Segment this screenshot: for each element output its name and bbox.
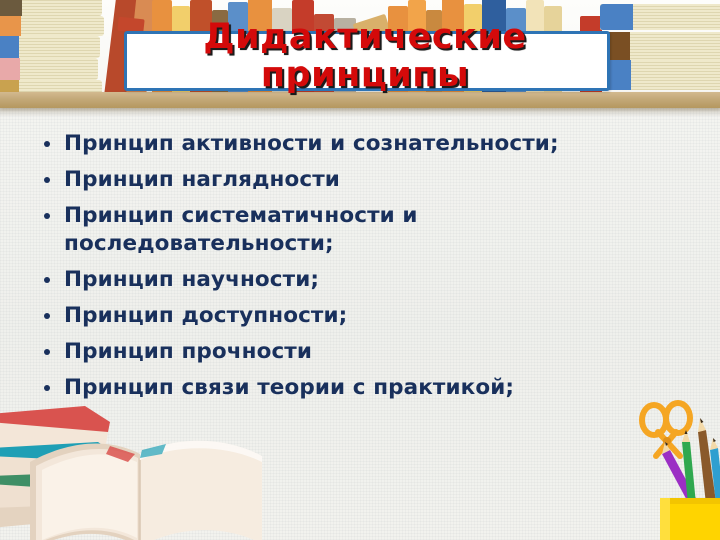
pencil-cup bbox=[660, 498, 720, 540]
bullet-dot-icon bbox=[44, 141, 50, 147]
title-plaque bbox=[124, 31, 610, 91]
bullet-dot-icon bbox=[44, 277, 50, 283]
bullet-dot-icon bbox=[44, 313, 50, 319]
bullet-dot-icon bbox=[44, 349, 50, 355]
list-item: Принцип активности и сознательности; bbox=[34, 130, 674, 158]
open-book-illustration bbox=[0, 392, 300, 540]
book-flat-right-1 bbox=[600, 4, 720, 30]
list-item: Принцип наглядности bbox=[34, 166, 674, 194]
book-flat-right-2 bbox=[596, 32, 720, 60]
book-flat-left-1 bbox=[0, 0, 102, 16]
shelf-shadow bbox=[0, 108, 720, 116]
book-flat-left-4 bbox=[0, 58, 98, 80]
bullet-dot-icon bbox=[44, 177, 50, 183]
bullet-dot-icon bbox=[44, 385, 50, 391]
pencil-cup-illustration bbox=[636, 398, 720, 540]
book-flat-right-3 bbox=[598, 60, 720, 90]
shelf-board bbox=[0, 92, 720, 108]
slide-canvas: Дидактические принципы Принцип активност… bbox=[0, 0, 720, 540]
list-item: Принцип прочности bbox=[34, 338, 674, 366]
list-item-label: Принцип доступности; bbox=[64, 303, 347, 328]
list-item: Принцип доступности; bbox=[34, 302, 674, 330]
book-flat-left-3 bbox=[0, 36, 100, 58]
list-item-label: Принцип активности и сознательности; bbox=[64, 131, 559, 156]
book-flat-left-2 bbox=[0, 16, 104, 36]
list-item-label: Принцип научности; bbox=[64, 267, 319, 292]
open-book-pages bbox=[30, 441, 262, 540]
list-item: Принцип научности; bbox=[34, 266, 674, 294]
principles-list: Принцип активности и сознательности; При… bbox=[34, 130, 674, 410]
list-item-label: Принцип прочности bbox=[64, 339, 312, 364]
list-item-label: Принцип систематичности и последовательн… bbox=[64, 203, 418, 256]
bullet-dot-icon bbox=[44, 213, 50, 219]
list-item-label: Принцип наглядности bbox=[64, 167, 340, 192]
list-item: Принцип систематичности и последовательн… bbox=[34, 202, 674, 258]
